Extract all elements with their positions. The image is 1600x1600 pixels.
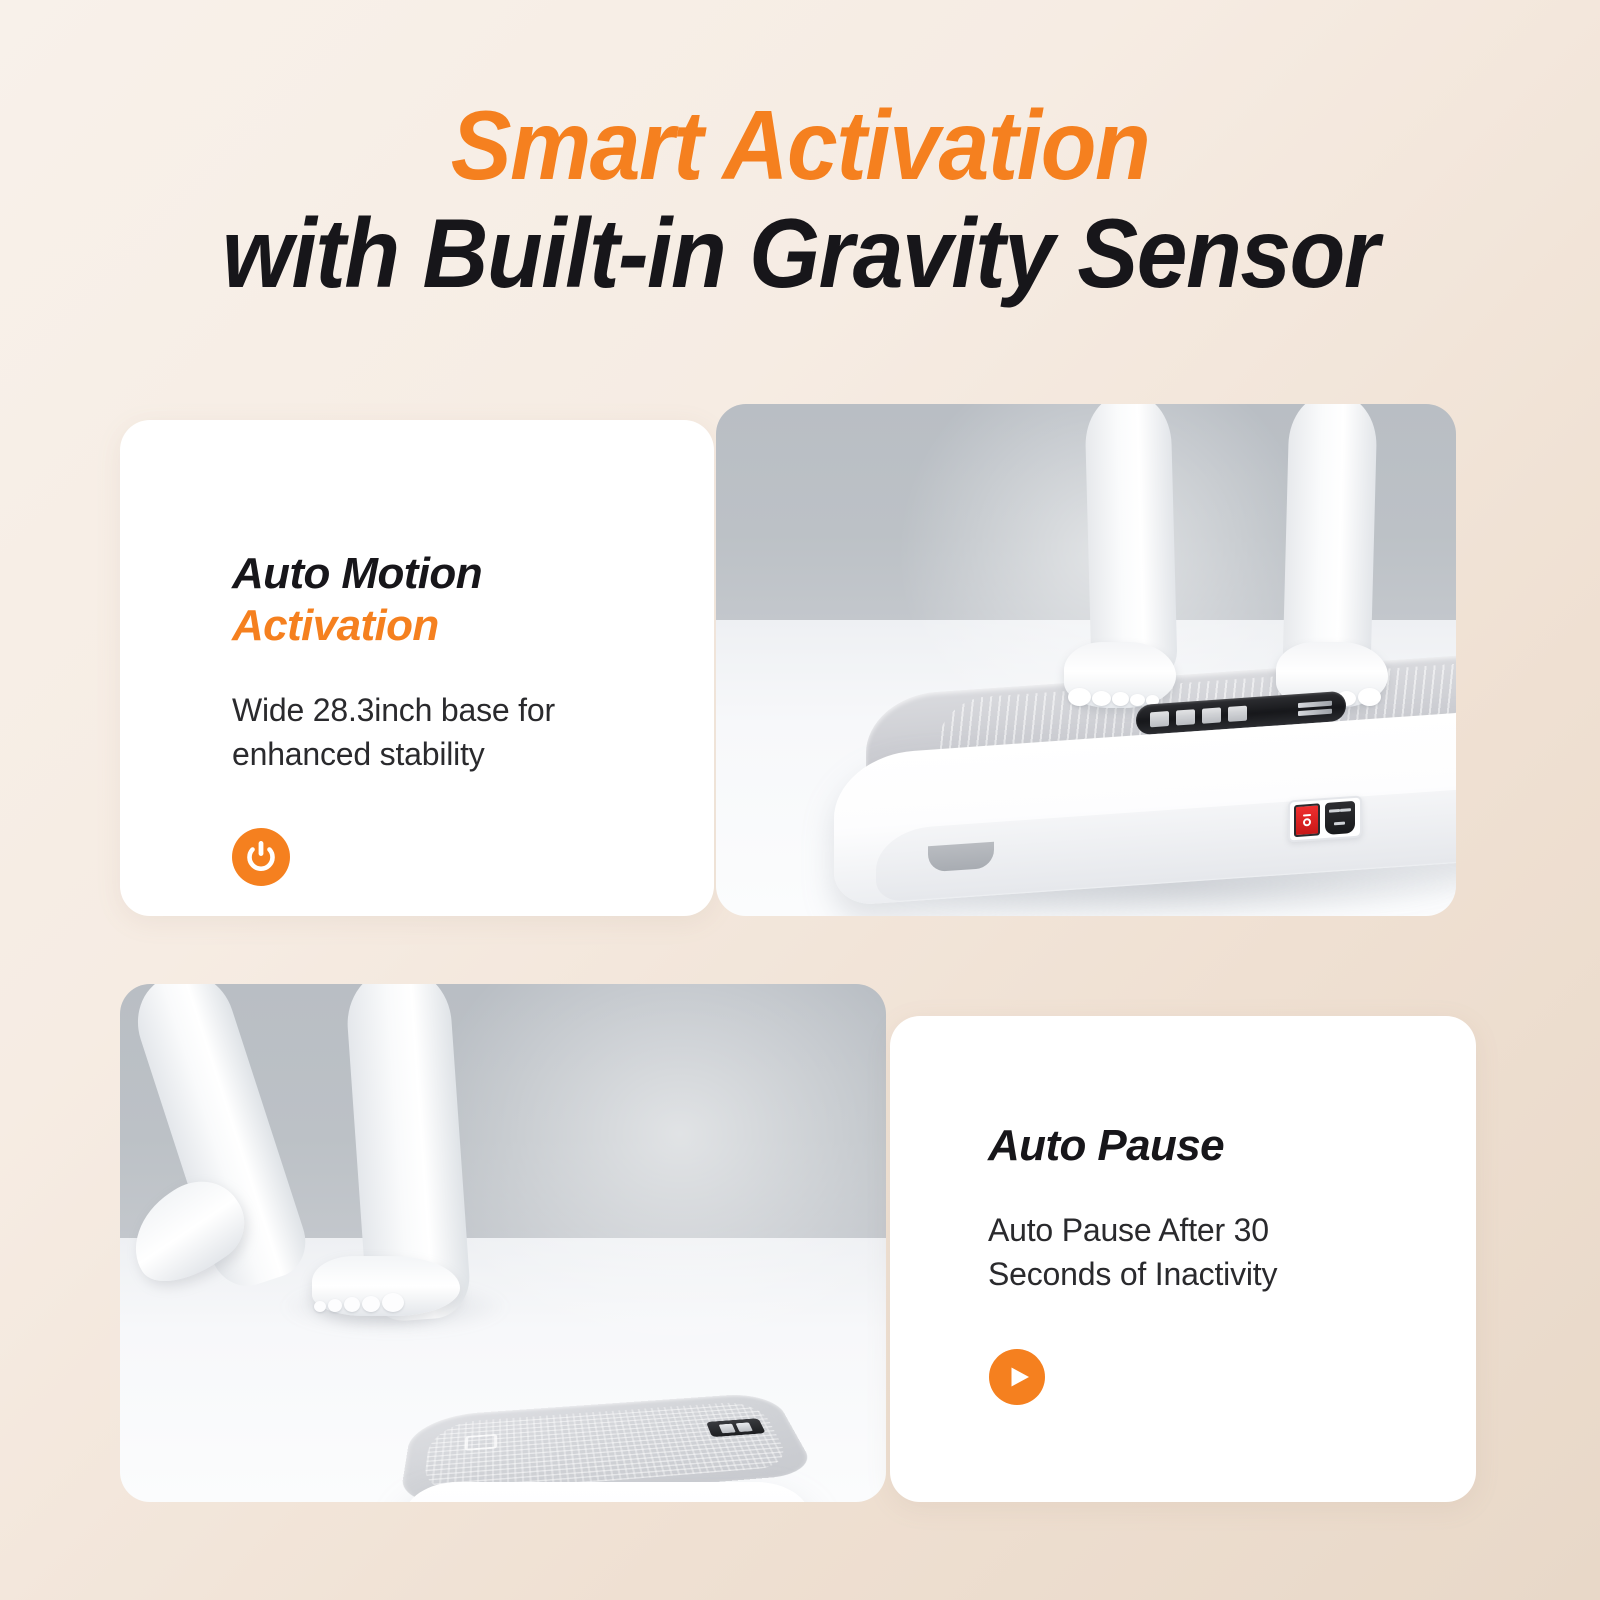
card-description: Auto Pause After 30 Seconds of Inactivit… bbox=[988, 1208, 1388, 1296]
card-title: Auto Motion Activation bbox=[232, 548, 714, 652]
photo-scene bbox=[716, 404, 1456, 916]
front-toes bbox=[314, 1292, 404, 1312]
feature-card-auto-pause: Auto Pause Auto Pause After 30 Seconds o… bbox=[890, 1016, 1476, 1502]
right-leg bbox=[1282, 404, 1377, 681]
power-socket bbox=[1325, 801, 1355, 835]
led-segment bbox=[1176, 709, 1195, 725]
photo-legs-stepping-away-from-plate bbox=[120, 984, 886, 1502]
power-rocker-switch[interactable] bbox=[1294, 803, 1320, 837]
deck-logo-icon bbox=[465, 1434, 498, 1451]
mini-plate-body bbox=[404, 1482, 810, 1502]
card-title-line-1: Auto Motion bbox=[232, 549, 482, 598]
power-icon[interactable] bbox=[232, 828, 290, 886]
card-title: Auto Pause bbox=[988, 1120, 1476, 1172]
led-segment bbox=[1202, 707, 1221, 723]
card-title-line-1: Auto Pause bbox=[988, 1121, 1224, 1170]
photo-feet-standing-on-vibration-plate bbox=[716, 404, 1456, 916]
card-title-line-2: Activation bbox=[232, 600, 714, 652]
page-heading: Smart Activation with Built-in Gravity S… bbox=[0, 96, 1600, 304]
led-segment bbox=[1150, 711, 1169, 727]
left-leg bbox=[1084, 404, 1177, 681]
heading-line-1: Smart Activation bbox=[56, 96, 1544, 196]
play-icon[interactable] bbox=[988, 1348, 1046, 1406]
led-segment bbox=[1228, 705, 1247, 721]
power-module[interactable] bbox=[1288, 795, 1362, 842]
heading-line-2: with Built-in Gravity Sensor bbox=[56, 204, 1544, 304]
front-foot bbox=[312, 1256, 460, 1316]
feature-card-auto-motion-activation: Auto Motion Activation Wide 28.3inch bas… bbox=[120, 420, 714, 916]
photo-scene bbox=[120, 984, 886, 1502]
left-foot bbox=[1064, 642, 1176, 708]
card-description: Wide 28.3inch base for enhanced stabilit… bbox=[232, 688, 652, 776]
led-indicator-rows bbox=[1298, 700, 1332, 715]
